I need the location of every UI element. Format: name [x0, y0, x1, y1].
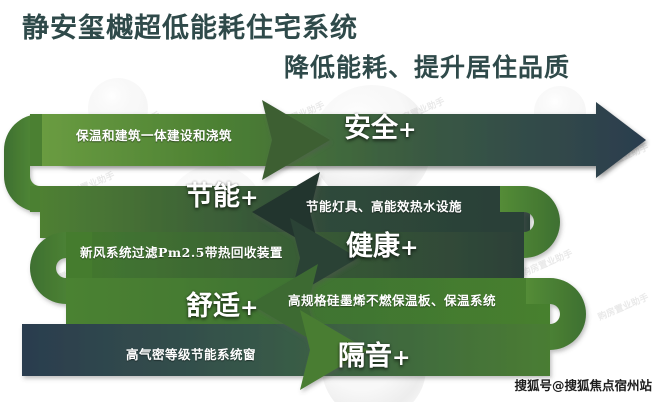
slide-canvas: 购房置业助手 购房置业助手 购房置业助手 购房置业助手 购房置业助手 购房置业助…: [0, 0, 660, 402]
serpentine-diagram: [0, 0, 660, 402]
sohu-watermark: 搜狐号@搜狐焦点宿州站: [514, 375, 652, 394]
